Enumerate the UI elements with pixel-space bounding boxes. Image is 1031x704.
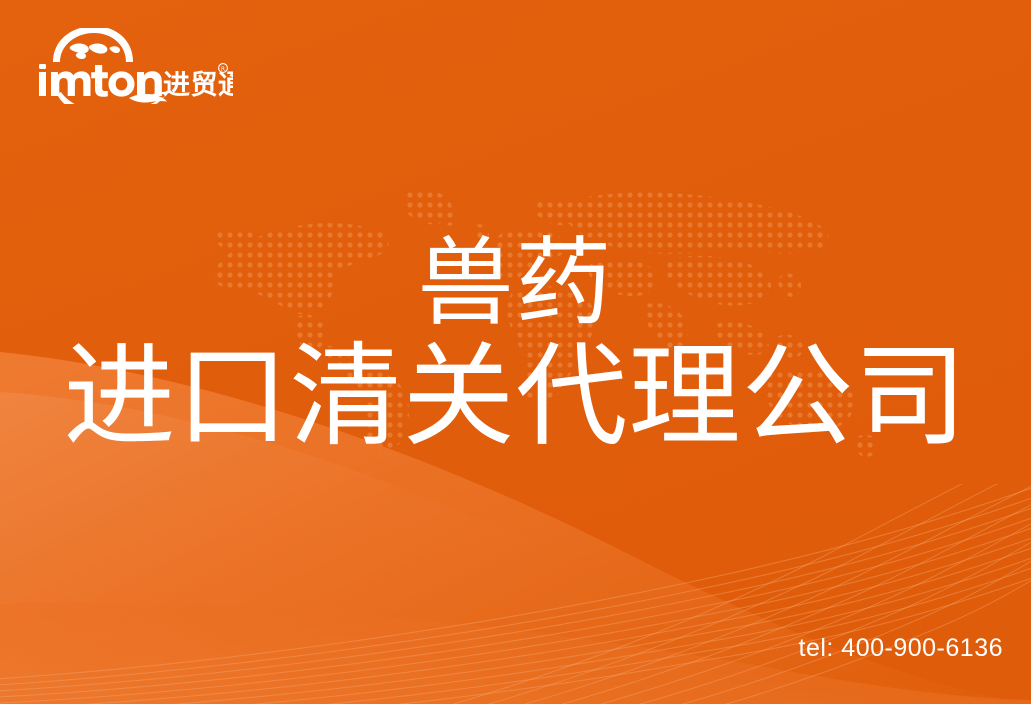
- logo-chinese-name: 进贸通: [163, 70, 233, 101]
- svg-text:R: R: [221, 66, 225, 73]
- brand-logo[interactable]: 进贸通 R: [33, 28, 233, 104]
- registered-trademark-icon: R: [219, 64, 228, 73]
- promo-banner: 进贸通 R 兽药 进口清关代理公司 tel: 400-900-6136: [0, 0, 1031, 704]
- contact-phone[interactable]: tel: 400-900-6136: [799, 634, 1003, 663]
- svg-text:进贸通: 进贸通: [163, 70, 233, 101]
- logo-wordmark: [39, 64, 162, 97]
- hairline-stripes-icon: [0, 484, 1031, 704]
- globe-arc-icon: [53, 28, 133, 62]
